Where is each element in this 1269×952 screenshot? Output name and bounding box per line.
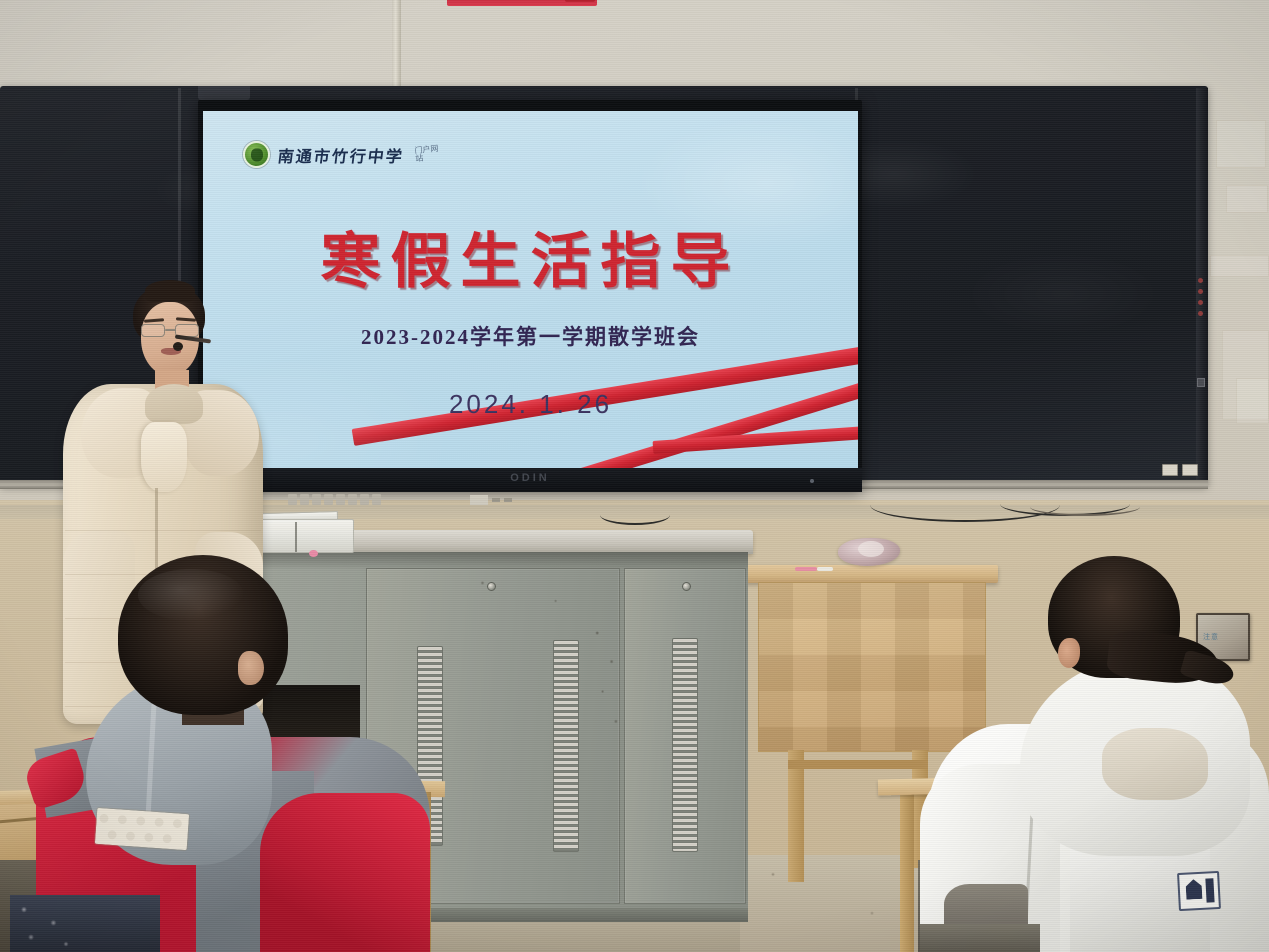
school-emblem-icon xyxy=(243,141,270,168)
student-right-ear xyxy=(1058,638,1080,668)
cable xyxy=(1030,498,1140,516)
patch-glyph-left xyxy=(1183,879,1204,900)
display-key[interactable] xyxy=(300,494,309,505)
glasses-bridge xyxy=(165,329,176,331)
display-brand-label: ODIN xyxy=(198,472,862,484)
wall-notice-3 xyxy=(1210,255,1269,277)
indicator-dot xyxy=(1198,300,1203,305)
teacher-lapel xyxy=(141,422,187,492)
student-left xyxy=(10,555,440,952)
classroom-scene: 南通市竹行中学 门户网站 寒假生活指导 2023-2024学年第一学期散学班会 … xyxy=(0,0,1269,952)
cabinet-grime xyxy=(440,565,610,625)
student-left-bag-pattern xyxy=(10,899,80,952)
student-right xyxy=(920,552,1269,952)
red-banner-edge-secondary xyxy=(565,0,595,2)
indicator-dot xyxy=(1198,278,1203,283)
display-key[interactable] xyxy=(372,494,381,505)
headset-microphone-icon xyxy=(173,342,183,351)
panel-corner-buttons[interactable] xyxy=(1162,462,1206,478)
cabinet-grime xyxy=(590,620,626,750)
aux-port[interactable] xyxy=(492,498,500,502)
display-key[interactable] xyxy=(348,494,357,505)
tray-divider xyxy=(295,522,297,552)
pink-marker xyxy=(795,567,817,571)
display-key[interactable] xyxy=(312,494,321,505)
panel-button[interactable] xyxy=(1182,464,1198,476)
wall-notice-2 xyxy=(1226,185,1268,213)
wall-notice-5 xyxy=(1236,378,1269,424)
cabinet-vent xyxy=(672,638,698,852)
display-key[interactable] xyxy=(288,494,297,505)
student-right-hood-lining xyxy=(1102,728,1208,800)
school-name-sub: 门户网站 xyxy=(414,145,442,164)
display-led-right xyxy=(810,479,814,483)
presentation-slide[interactable]: 南通市竹行中学 门户网站 寒假生活指导 2023-2024学年第一学期散学班会 … xyxy=(203,111,858,471)
student-left-ear xyxy=(238,651,264,685)
student-left-arm xyxy=(260,793,430,952)
glasses-icon xyxy=(140,324,202,338)
glasses-lens-left xyxy=(141,324,165,337)
bench-leg xyxy=(900,792,914,952)
display-key[interactable] xyxy=(324,494,333,505)
desk-right-leg xyxy=(788,750,804,882)
cloth-bundle-highlight xyxy=(858,541,884,557)
indicator-dot xyxy=(1198,311,1203,316)
patch-glyph-right xyxy=(1205,878,1214,902)
wall-notice-1 xyxy=(1216,120,1266,168)
cable xyxy=(600,505,670,525)
student-left-reflective-strip xyxy=(95,808,189,850)
display-control-keys[interactable] xyxy=(288,494,408,506)
usb-port[interactable] xyxy=(470,495,488,505)
white-chalk xyxy=(817,567,833,571)
aux-port-2[interactable] xyxy=(504,498,512,502)
school-logo: 南通市竹行中学 门户网站 xyxy=(243,141,441,168)
jacket-logo-patch xyxy=(1177,871,1221,911)
teacher-collar xyxy=(145,384,203,424)
display-port-panel[interactable] xyxy=(470,494,530,505)
blackboard-top-notch xyxy=(198,86,250,100)
student-right-bottom-shadow xyxy=(920,924,1040,952)
slide-subtitle: 2023-2024学年第一学期散学班会 xyxy=(203,321,858,351)
panel-side-button[interactable] xyxy=(1197,378,1205,387)
student-left-hair-highlight xyxy=(138,569,244,621)
desk-right-rail xyxy=(788,760,928,769)
cabinet-lock-icon[interactable] xyxy=(682,582,691,591)
display-bottom-bezel: ODIN xyxy=(198,468,862,492)
panel-button[interactable] xyxy=(1162,464,1178,476)
teacher-hair-bun xyxy=(145,280,195,302)
slide-date: 2024. 1. 26 xyxy=(203,389,858,420)
status-indicator-dots xyxy=(1198,278,1204,320)
display-key[interactable] xyxy=(360,494,369,505)
wall-pipe xyxy=(392,0,401,96)
display-key[interactable] xyxy=(336,494,345,505)
school-name: 南通市竹行中学 xyxy=(277,143,406,167)
indicator-dot xyxy=(1198,289,1203,294)
slide-title: 寒假生活指导 xyxy=(203,213,858,300)
cabinet-vent xyxy=(553,640,579,852)
